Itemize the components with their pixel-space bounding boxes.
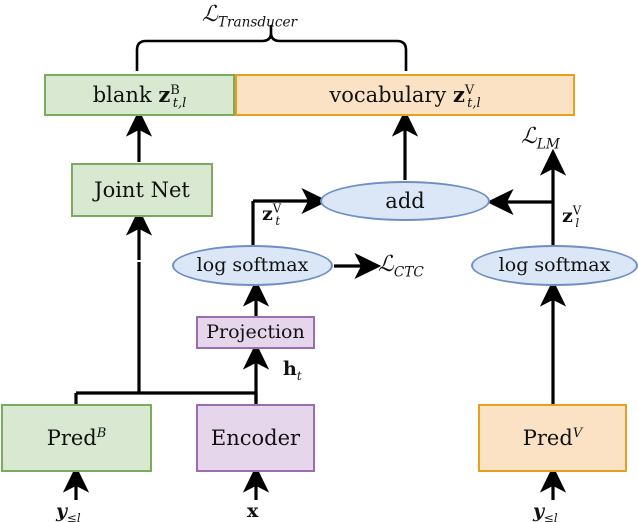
vocabulary-logits-box[interactable]: vocabulary zVt,l xyxy=(235,74,575,116)
joint-net-label: Joint Net xyxy=(94,180,190,201)
input-y-right-label: y≤l xyxy=(533,500,558,522)
blank-logits-box[interactable]: blank zBt,l xyxy=(44,74,235,116)
pred-b-box[interactable]: PredB xyxy=(1,404,152,472)
projection-box[interactable]: Projection xyxy=(196,316,315,349)
log-softmax-right-label: log softmax xyxy=(499,256,611,275)
h-t-label: ht xyxy=(283,358,302,380)
encoder-box[interactable]: Encoder xyxy=(196,404,315,472)
pred-v-label: PredV xyxy=(523,428,582,449)
log-softmax-left-label: log softmax xyxy=(197,256,309,275)
pred-b-label: PredB xyxy=(47,428,107,449)
vocabulary-logits-label: vocabulary zVt,l xyxy=(329,84,480,106)
loss-transducer-label: ℒTransducer xyxy=(202,2,297,27)
loss-ctc-label: ℒCTC xyxy=(378,252,424,277)
blank-logits-label: blank zBt,l xyxy=(93,84,187,106)
log-softmax-left-ellipse[interactable]: log softmax xyxy=(172,245,333,286)
pred-v-box[interactable]: PredV xyxy=(478,404,627,472)
z-l-v-label: zVl xyxy=(562,205,579,227)
log-softmax-right-ellipse[interactable]: log softmax xyxy=(471,245,638,286)
projection-label: Projection xyxy=(206,323,304,342)
z-t-v-label: zVt xyxy=(262,203,280,225)
diagram-canvas: ℒTransducer blank zBt,l vocabulary zVt,l… xyxy=(0,0,638,522)
joint-net-box[interactable]: Joint Net xyxy=(71,163,213,217)
input-y-left-label: y≤l xyxy=(56,500,81,522)
add-label: add xyxy=(385,191,424,212)
loss-lm-label: ℒLM xyxy=(521,124,560,149)
input-x-label: x xyxy=(247,500,258,522)
encoder-label: Encoder xyxy=(211,428,300,449)
add-ellipse[interactable]: add xyxy=(320,181,490,221)
